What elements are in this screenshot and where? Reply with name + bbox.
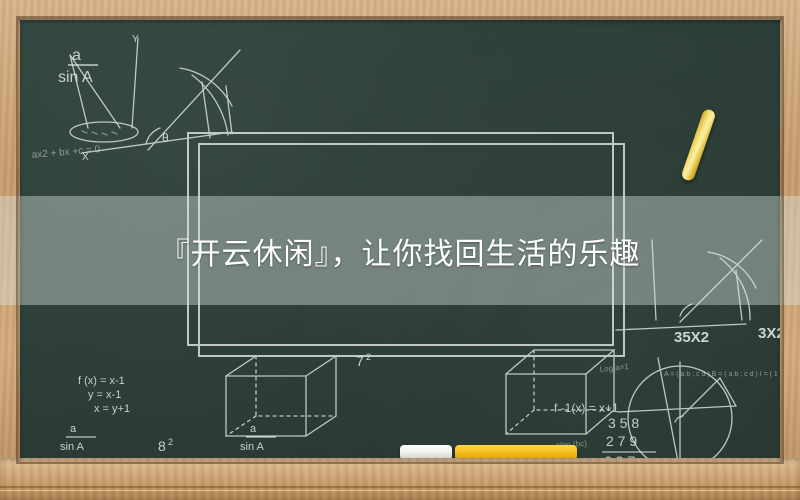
frame-inner-shadow [18, 18, 782, 462]
chalk-ledge [0, 458, 800, 500]
ledge-shadow-line [0, 486, 800, 488]
ledge-highlight-line [0, 490, 800, 491]
chalkboard-banner-image: Y X θ a sin A ax2 + bx +c = 0 f (x) = x-… [0, 0, 800, 500]
